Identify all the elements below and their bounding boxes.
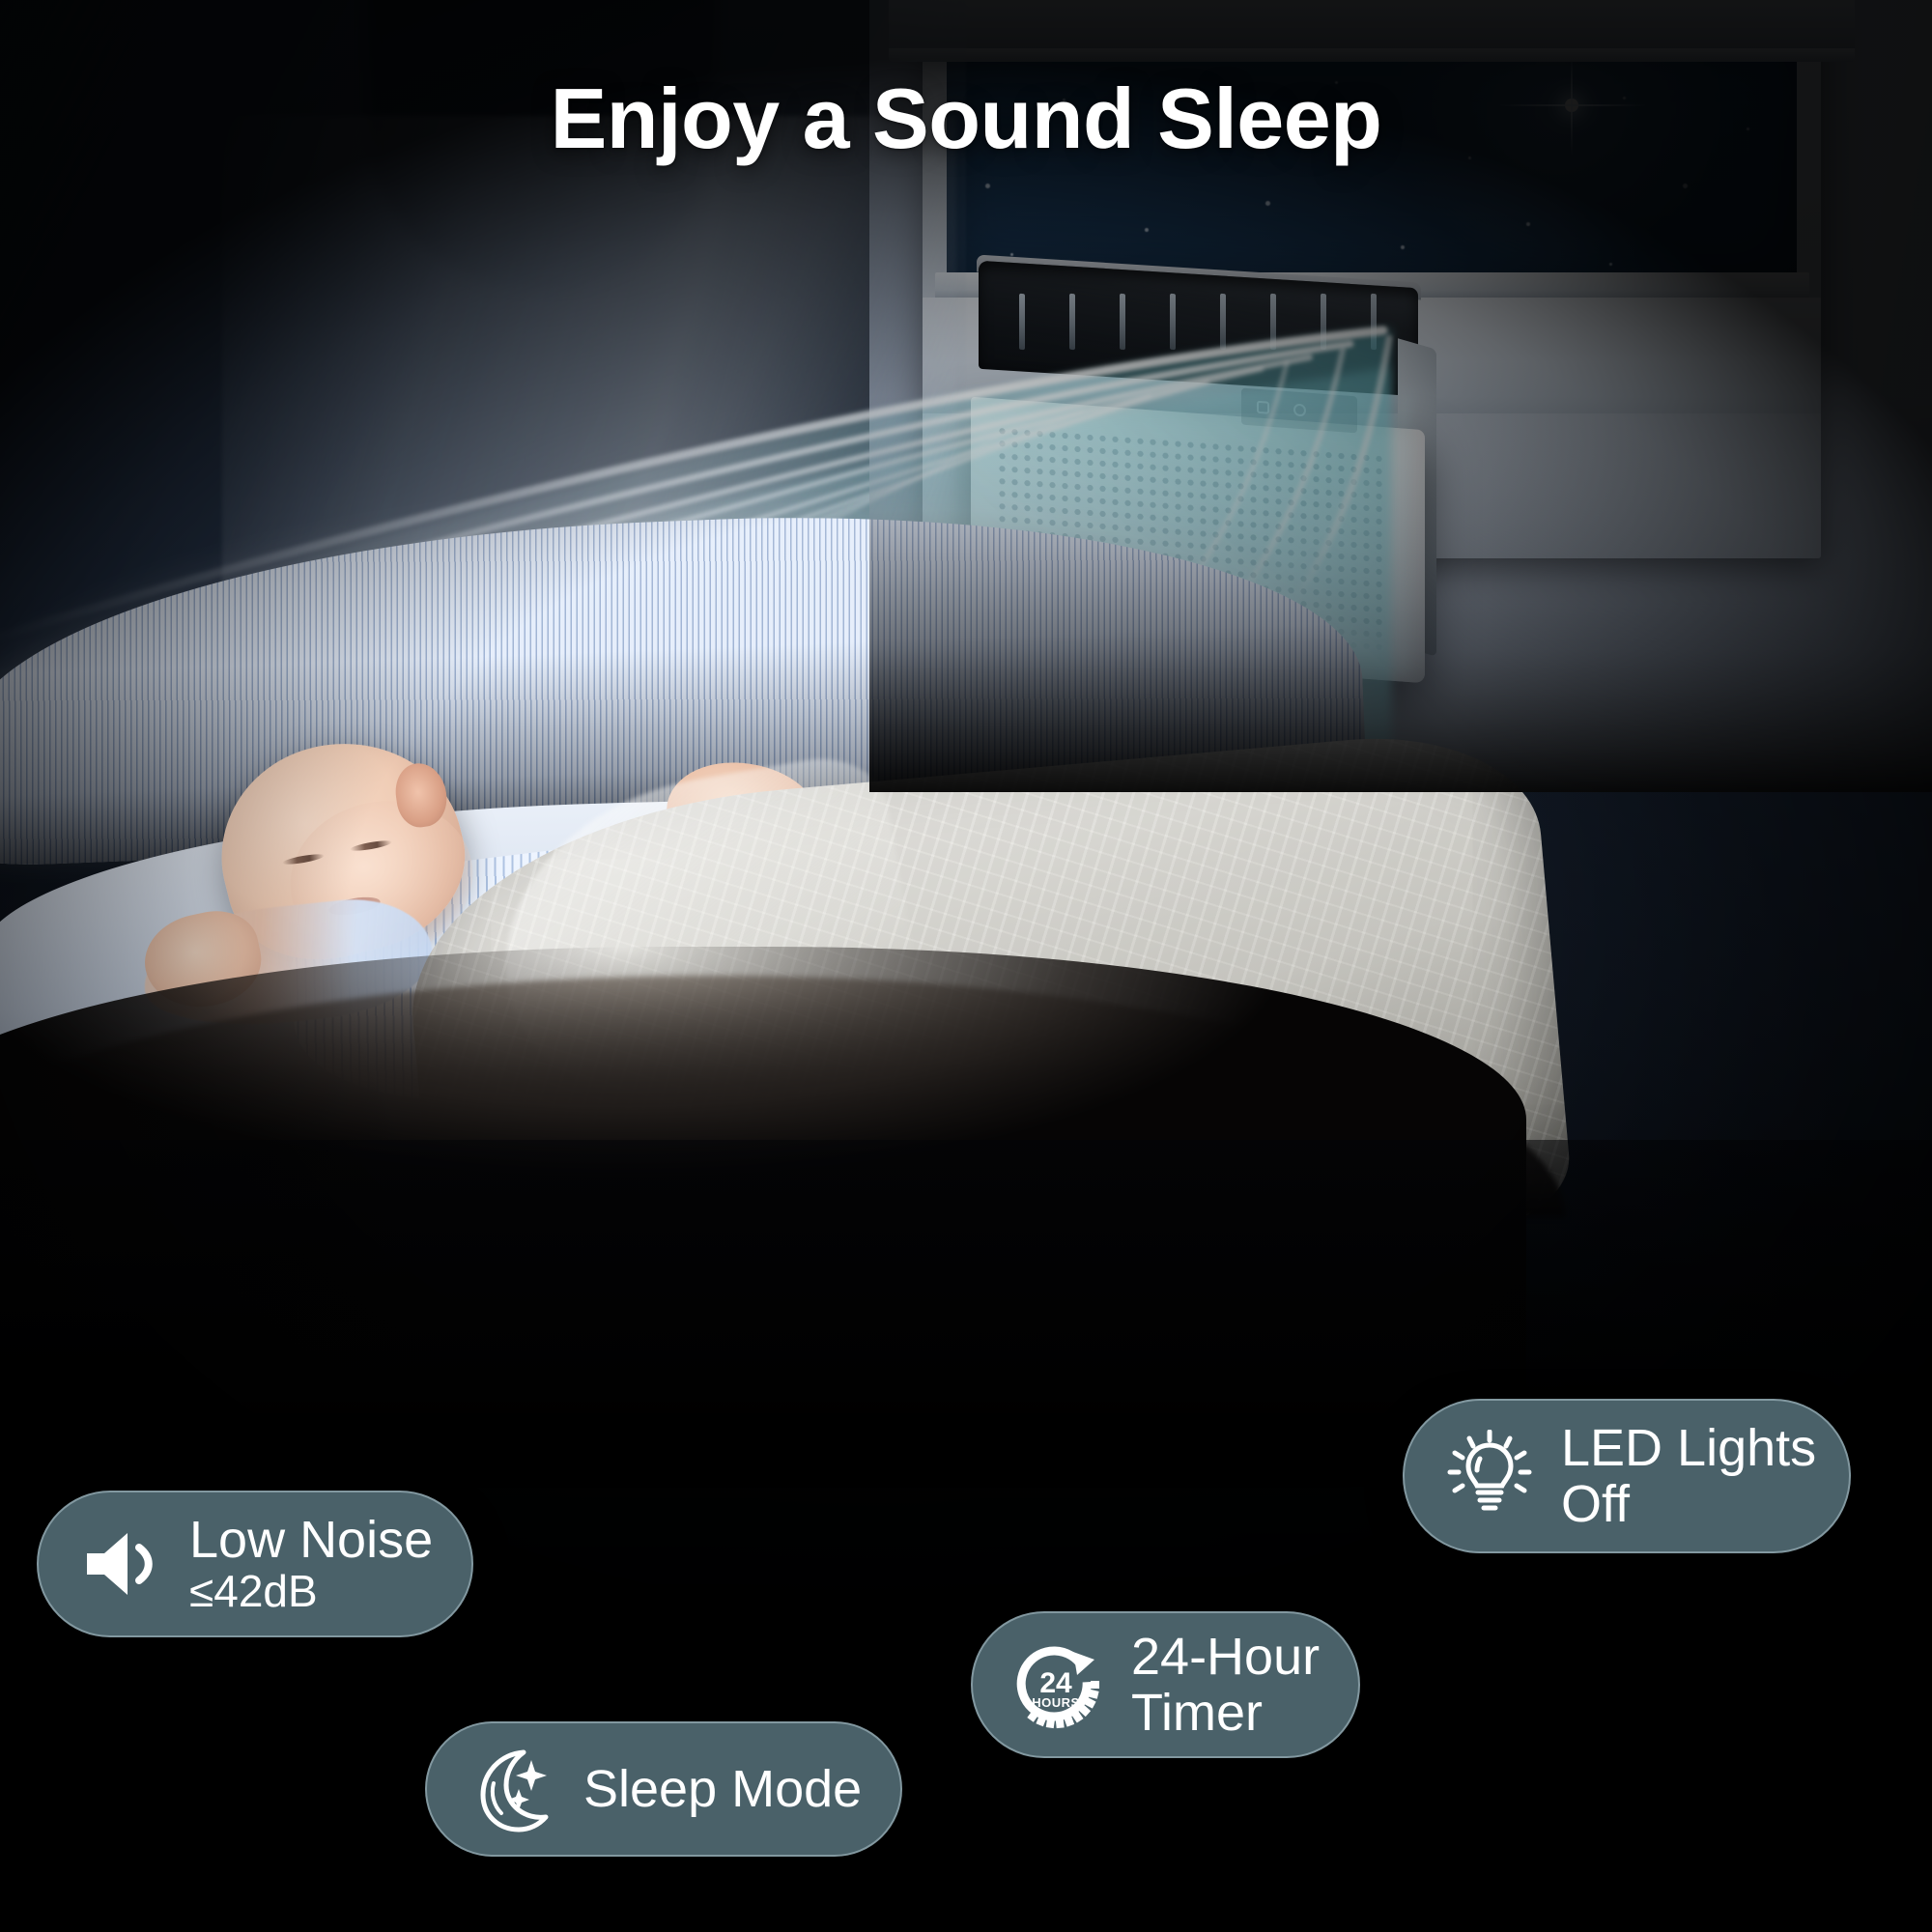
- feature-badge-low-noise-text: Low Noise ≤42dB: [189, 1512, 433, 1616]
- feature-badge-low-noise: Low Noise ≤42dB: [37, 1491, 473, 1637]
- product-feature-image: Enjoy a Sound Sleep Low Noise ≤42dB: [0, 0, 1932, 1932]
- feature-label-line1: Sleep Mode: [583, 1760, 862, 1818]
- feature-label-line2: Off: [1561, 1476, 1816, 1532]
- page-title: Enjoy a Sound Sleep: [0, 70, 1932, 168]
- feature-badge-led-text: LED Lights Off: [1561, 1420, 1816, 1533]
- 24-hour-clock-icon: 24 HOURS: [1006, 1634, 1106, 1735]
- speaker-icon: [81, 1528, 164, 1600]
- feature-label-line1: LED Lights: [1561, 1420, 1816, 1476]
- feature-label-line2: ≤42dB: [189, 1568, 433, 1616]
- lightbulb-icon: [1443, 1430, 1536, 1522]
- feature-badge-24-hour-timer: 24 HOURS 24-Hour Timer: [971, 1611, 1360, 1758]
- feature-badge-sleep-text: Sleep Mode: [583, 1761, 862, 1817]
- feature-badge-sleep-mode: Sleep Mode: [425, 1721, 902, 1857]
- crescent-moon-icon: [466, 1743, 558, 1835]
- feature-label-line1: 24-Hour: [1131, 1629, 1320, 1685]
- feature-badge-timer-text: 24-Hour Timer: [1131, 1629, 1320, 1742]
- feature-badge-led-lights-off: LED Lights Off: [1403, 1399, 1851, 1553]
- timer-icon-unit: HOURS: [1032, 1695, 1079, 1710]
- feature-label-line2: Timer: [1131, 1685, 1320, 1741]
- feature-label-line1: Low Noise: [189, 1512, 433, 1568]
